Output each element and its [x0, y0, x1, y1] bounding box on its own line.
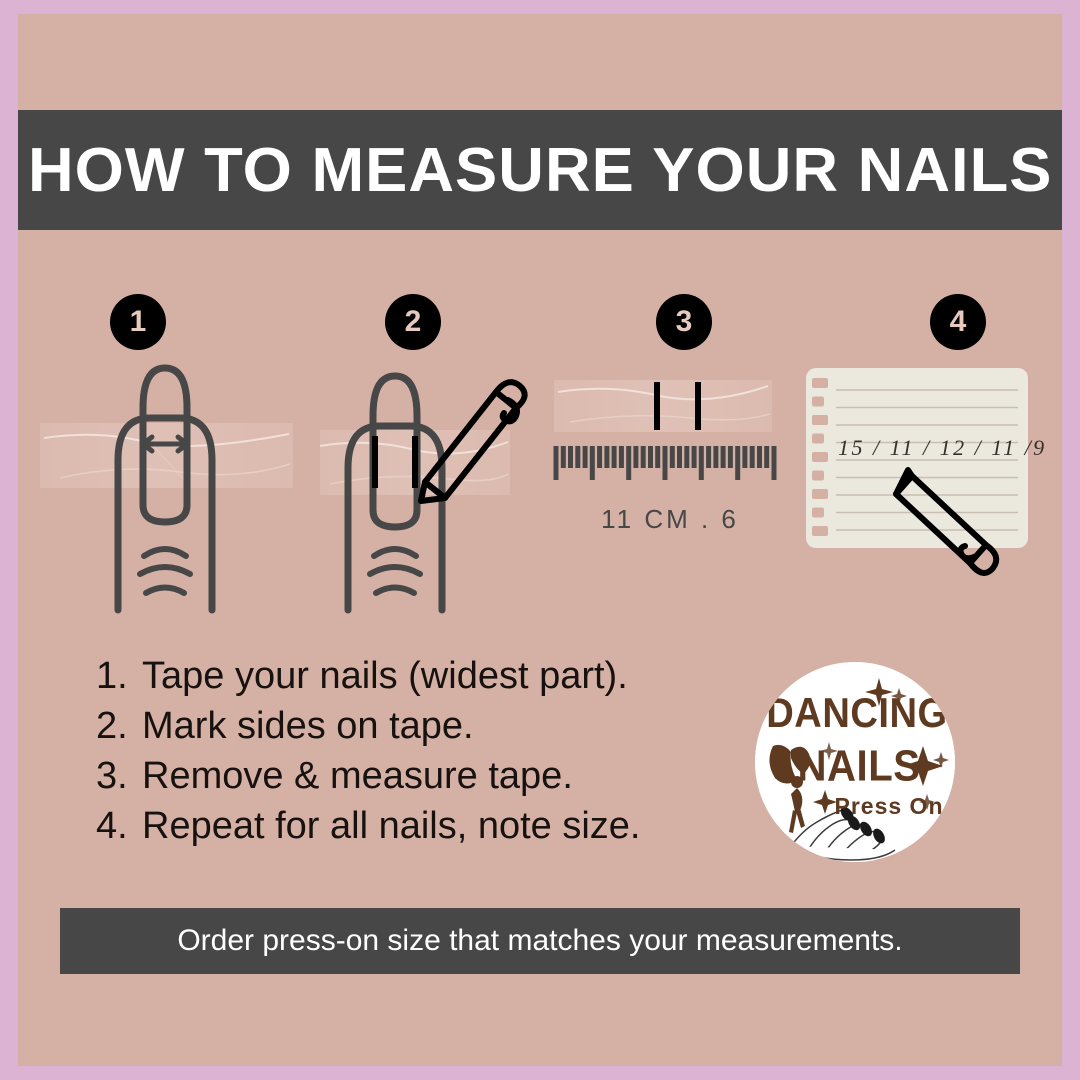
- step-1-illustration: [40, 360, 330, 620]
- infographic-poster: HOW TO MEASURE YOUR NAILS 1 2 3 4: [0, 0, 1080, 1080]
- page-title: HOW TO MEASURE YOUR NAILS: [28, 135, 1053, 206]
- title-banner: HOW TO MEASURE YOUR NAILS: [18, 110, 1062, 230]
- dancing-nails-logo-icon: DANCING NAILS Press On: [755, 662, 955, 862]
- list-item: 3. Remove & measure tape.: [96, 755, 736, 798]
- list-item: 4. Repeat for all nails, note size.: [96, 805, 736, 848]
- step-badge-1: 1: [110, 294, 166, 350]
- list-item-number: 4.: [96, 805, 142, 848]
- list-item-text: Repeat for all nails, note size.: [142, 805, 641, 848]
- finger-tape-arrow-icon: [40, 360, 330, 620]
- logo-line-2: NAILS: [797, 741, 920, 790]
- step-badge-3: 3: [656, 294, 712, 350]
- list-item-text: Mark sides on tape.: [142, 705, 474, 748]
- list-item-text: Tape your nails (widest part).: [142, 655, 628, 698]
- list-item: 2. Mark sides on tape.: [96, 705, 736, 748]
- brand-logo: DANCING NAILS Press On: [755, 662, 955, 862]
- illustration-row: 11 CM . 6 15 / 11 / 12 / 11 /9: [0, 360, 1080, 620]
- footer-note: Order press-on size that matches your me…: [177, 924, 902, 958]
- ruler-ticks: [556, 446, 774, 480]
- handwritten-note: 15 / 11 / 12 / 11 /9: [838, 435, 1047, 460]
- tape-ruler-icon: 11 CM . 6: [540, 360, 800, 620]
- notebook-pencil-icon: 15 / 11 / 12 / 11 /9: [790, 360, 1050, 620]
- list-item-text: Remove & measure tape.: [142, 755, 573, 798]
- list-item-number: 3.: [96, 755, 142, 798]
- logo-line-3: Press On: [835, 793, 944, 819]
- logo-line-1: DANCING: [766, 691, 947, 737]
- step-4-illustration: 15 / 11 / 12 / 11 /9: [790, 360, 1050, 620]
- list-item-number: 1.: [96, 655, 142, 698]
- list-item-number: 2.: [96, 705, 142, 748]
- list-item: 1. Tape your nails (widest part).: [96, 655, 736, 698]
- step-badge-2: 2: [385, 294, 441, 350]
- instruction-list: 1. Tape your nails (widest part). 2. Mar…: [96, 655, 736, 855]
- step-3-illustration: 11 CM . 6: [540, 360, 800, 620]
- footer-banner: Order press-on size that matches your me…: [60, 908, 1020, 974]
- step-badge-4: 4: [930, 294, 986, 350]
- measurement-label: 11 CM . 6: [601, 504, 739, 534]
